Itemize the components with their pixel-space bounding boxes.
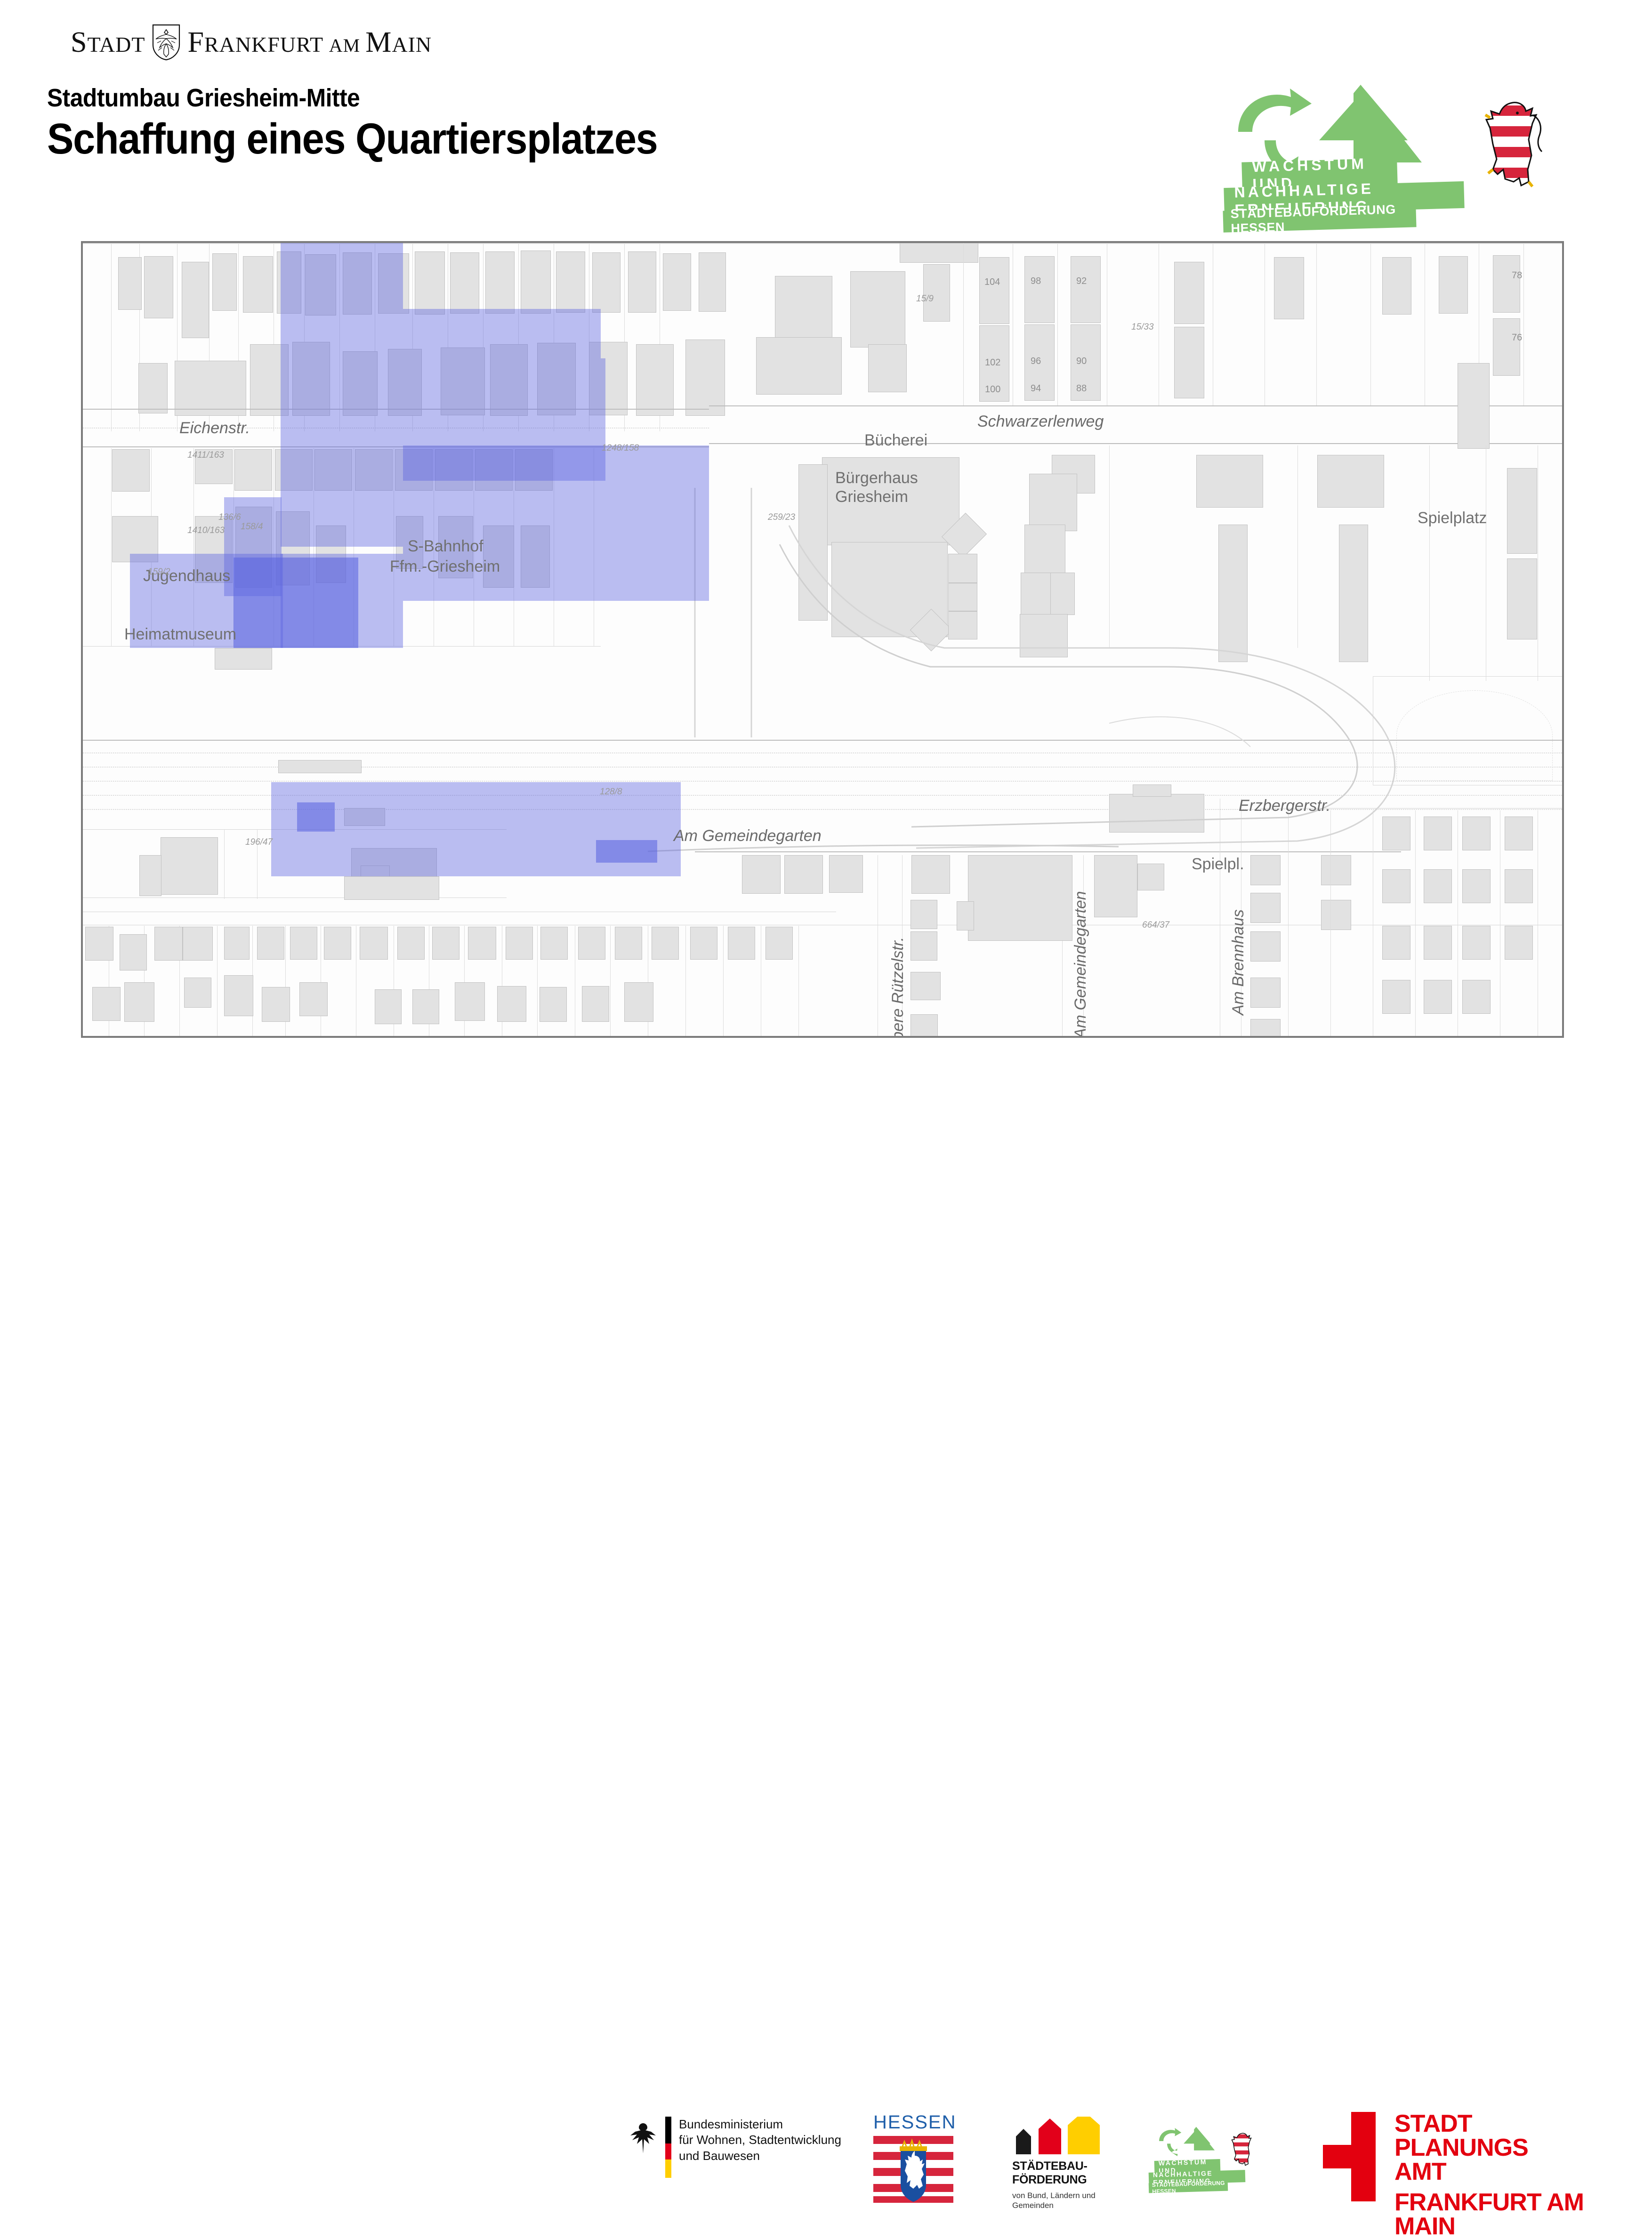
parcel-number: 259/23	[768, 512, 795, 523]
stbf-sub-1: von Bund, Ländern und	[1012, 2191, 1120, 2200]
parcel-number: 15/33	[1131, 322, 1154, 332]
highlight-area-south-block	[281, 554, 403, 648]
staedtebaufoerderung-subtext: von Bund, Ländern und Gemeinden	[1012, 2191, 1120, 2211]
street-label-am-brennhaus: Am Brennhaus	[1229, 909, 1248, 1015]
federal-eagle-icon	[629, 2121, 658, 2155]
street-label-eichenstr: Eichenstr.	[179, 419, 250, 437]
wachstum-small-band-3: STÄDTEBAUFÖRDERUNG HESSEN	[1149, 2181, 1228, 2193]
highlight-area-north-band	[281, 243, 403, 302]
highlight-area-curve-arm	[403, 445, 709, 601]
parcel-number: 15/9	[916, 294, 934, 304]
project-subtitle: Stadtumbau Griesheim-Mitte	[47, 85, 657, 112]
highlight-area-hex-group	[596, 840, 657, 863]
house-number: 98	[1031, 276, 1041, 287]
house-number: 100	[985, 384, 1000, 395]
street-label-am-gemeindegarten: Am Gemeindegarten	[674, 827, 822, 845]
highlight-area-main-band	[281, 302, 403, 547]
bmw-line-3: und Bauwesen	[679, 2148, 841, 2164]
bundesministerium-logo: Bundesministerium für Wohnen, Stadtentwi…	[629, 2117, 892, 2185]
wachstum-small-logo: WACHSTUM UND NACHHALTIGE ERNEUERUNG STÄD…	[1149, 2117, 1290, 2201]
spa-subtitle: FRANKFURT AM MAIN	[1394, 2191, 1587, 2239]
page-title: Schaffung eines Quartiersplatzes	[47, 116, 657, 162]
map-canvas: Eichenstr. Schwarzerlenweg Am Gemeindega…	[83, 243, 1562, 1036]
stadtplanungsamt-text: STADT PLANUNGS AMT FRANKFURT AM MAIN	[1394, 2112, 1587, 2239]
place-label-ffm-griesheim: Ffm.-Griesheim	[390, 558, 500, 576]
staedtebaufoerderung-text: STÄDTEBAU- FÖRDERUNG	[1012, 2159, 1120, 2187]
house-number: 92	[1076, 276, 1087, 287]
parcel-number: 1248/158	[602, 443, 639, 453]
place-label-buergerhaus: Bürgerhaus	[835, 469, 918, 487]
place-label-heimatmuseum: Heimatmuseum	[124, 625, 236, 644]
parcel-number: 664/37	[1142, 920, 1169, 930]
parcel-number: 159/2	[148, 567, 170, 577]
spa-line-3: AMT	[1394, 2160, 1587, 2184]
spa-line-1: STADT	[1394, 2112, 1587, 2136]
city-logo-word-stadt: STADT	[71, 26, 145, 59]
house-number: 102	[985, 357, 1000, 368]
highlight-area-building	[297, 802, 335, 832]
hessen-lion-small-icon	[1228, 2131, 1255, 2168]
bmw-line-2: für Wohnen, Stadtentwicklung	[679, 2132, 841, 2148]
hessen-wordmark: HESSEN	[873, 2112, 963, 2133]
house-number: 90	[1076, 356, 1087, 367]
street-label-am-gemeindegarten-vert: Am Gemeindegarten	[1072, 891, 1090, 1038]
parcel-number: 128/8	[600, 787, 622, 797]
house-number: 76	[1512, 332, 1522, 343]
parcel-number: 1411/163	[187, 450, 224, 461]
wachstum-und-nachhaltige-erneuerung-logo: WACHSTUM UND NACHHALTIGE ERNEUERUNG STÄD…	[1219, 85, 1577, 240]
bundesministerium-text: Bundesministerium für Wohnen, Stadtentwi…	[679, 2117, 841, 2164]
hessen-state-logo: HESSEN	[873, 2112, 963, 2204]
parcel-number: 158/4	[241, 522, 263, 532]
highlight-area-east-arm	[403, 309, 601, 358]
place-label-buecherei: Bücherei	[864, 431, 927, 450]
spa-line-2: PLANUNGS	[1394, 2136, 1587, 2160]
stadtplanungsamt-mark-icon	[1323, 2112, 1376, 2201]
house-number: 94	[1031, 383, 1041, 394]
place-label-griesheim: Griesheim	[835, 488, 908, 506]
house-number: 78	[1512, 270, 1522, 281]
frankfurt-eagle-crest-icon	[152, 24, 181, 61]
street-label-schwarzerlenweg: Schwarzerlenweg	[977, 412, 1104, 431]
hessen-lion-icon	[1476, 99, 1547, 191]
stadtplanungsamt-logo: STADT PLANUNGS AMT FRANKFURT AM MAIN	[1323, 2112, 1587, 2206]
place-label-spielpl: Spielpl.	[1192, 855, 1244, 873]
three-houses-icon	[1012, 2117, 1120, 2154]
house-number: 96	[1031, 356, 1041, 367]
staedtebaufoerderung-logo: STÄDTEBAU- FÖRDERUNG von Bund, Ländern u…	[1012, 2117, 1120, 2204]
house-number: 104	[984, 277, 1000, 288]
hessen-flag-crest-icon	[873, 2136, 953, 2203]
city-logo-word-frankfurt: FRANKFURT AM MAIN	[187, 26, 432, 59]
house-number: 88	[1076, 383, 1087, 394]
city-of-frankfurt-logo: STADT FRANKFURT AM MAIN	[71, 24, 372, 61]
parcel-number: 136/6	[218, 512, 241, 523]
place-label-spielplatz: Spielplatz	[1418, 509, 1487, 527]
site-plan-map[interactable]: Eichenstr. Schwarzerlenweg Am Gemeindega…	[81, 241, 1564, 1038]
street-label-obere-ruetzelstr: Obere Rützelstr.	[889, 937, 907, 1038]
stbf-sub-2: Gemeinden	[1012, 2200, 1120, 2210]
page-footer: Bundesministerium für Wohnen, Stadtentwi…	[0, 1050, 1652, 1168]
wachstum-band-3: STÄDTEBAUFÖRDERUNG HESSEN	[1223, 205, 1416, 232]
bmw-line-1: Bundesministerium	[679, 2117, 841, 2132]
german-flag-bar	[665, 2117, 671, 2178]
parcel-number: 196/47	[245, 837, 273, 848]
stbf-line-1: STÄDTEBAU-	[1012, 2159, 1120, 2173]
title-block: Stadtumbau Griesheim-Mitte Schaffung ein…	[47, 85, 710, 162]
street-label-erzbergerstr: Erzbergerstr.	[1239, 797, 1330, 815]
page-header: STADT FRANKFURT AM MAIN Stadtumbau Gries…	[0, 0, 1652, 235]
parcel-number: 1410/163	[187, 526, 225, 536]
place-label-s-bahnhof: S-Bahnhof	[408, 537, 484, 556]
stbf-line-2: FÖRDERUNG	[1012, 2173, 1120, 2187]
